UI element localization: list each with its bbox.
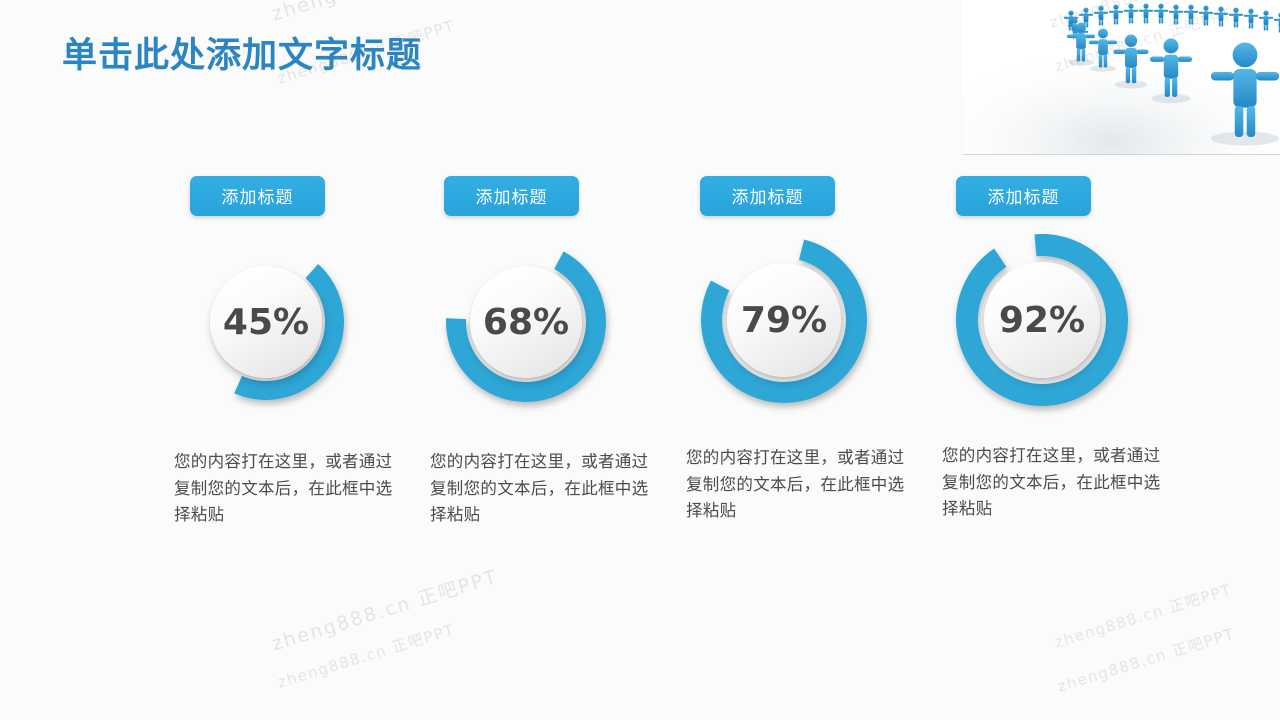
donut-chart-1: 45% [178, 238, 368, 413]
donut-chart-3: 79% [690, 234, 880, 409]
percent-value-1: 45% [223, 302, 309, 343]
columns-container: 添加标题 45% 您的内容打在这里，或者通过复制您的文本后，在此框中选择粘贴 [0, 0, 1280, 720]
percent-value-4: 92% [999, 300, 1085, 341]
stat-column: 添加标题 68% 您的内容打在这里，或者通过复制您的文本后，在此框中选择粘贴 [422, 176, 672, 529]
column-body-text-4: 您的内容打在这里，或者通过复制您的文本后，在此框中选择粘贴 [942, 443, 1170, 523]
stat-column: 添加标题 45% 您的内容打在这里，或者通过复制您的文本后，在此框中选择粘贴 [168, 176, 418, 529]
stat-column: 添加标题 79% 您的内容打在这里，或者通过复制您的文本后，在此框中选择粘贴 [676, 176, 926, 525]
stat-column: 添加标题 92% 您的内容打在这里，或者通过复制您的文本后，在此框中选择粘贴 [930, 176, 1180, 523]
column-badge-4[interactable]: 添加标题 [956, 176, 1091, 216]
donut-inner-disc-4: 92% [984, 262, 1100, 378]
donut-chart-2: 68% [434, 238, 624, 413]
column-badge-1[interactable]: 添加标题 [190, 176, 325, 216]
column-badge-3[interactable]: 添加标题 [700, 176, 835, 216]
column-body-text-3: 您的内容打在这里，或者通过复制您的文本后，在此框中选择粘贴 [686, 445, 914, 525]
percent-value-3: 79% [741, 300, 827, 341]
donut-inner-disc-3: 79% [727, 263, 841, 377]
donut-inner-disc-2: 68% [470, 266, 582, 378]
column-badge-2[interactable]: 添加标题 [444, 176, 579, 216]
donut-inner-disc-1: 45% [210, 266, 322, 378]
column-body-text-2: 您的内容打在这里，或者通过复制您的文本后，在此框中选择粘贴 [430, 449, 658, 529]
column-body-text-1: 您的内容打在这里，或者通过复制您的文本后，在此框中选择粘贴 [174, 449, 402, 529]
slide-canvas: 单击此处添加文字标题 [0, 0, 1280, 720]
donut-chart-4: 92% [946, 232, 1136, 407]
percent-value-2: 68% [483, 302, 569, 343]
